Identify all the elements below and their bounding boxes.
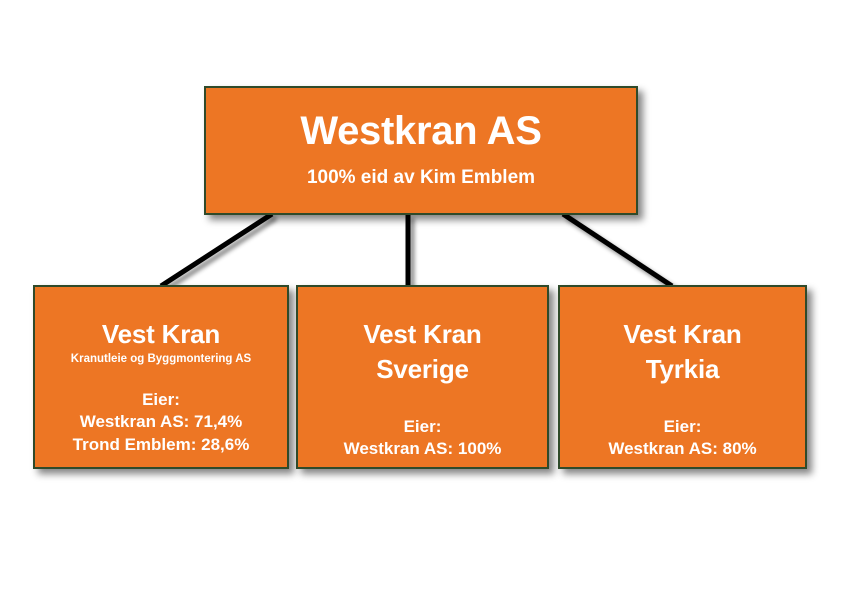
org-node-westkran-as[interactable]: Westkran AS 100% eid av Kim Emblem <box>204 86 638 215</box>
org-node-title-line: Tyrkia <box>623 352 741 387</box>
owner-label: Eier: <box>608 416 756 438</box>
org-node-title: Vest Kran Tyrkia <box>623 317 741 388</box>
org-node-title: Vest Kran Sverige <box>363 317 481 388</box>
connector-root-to-vest-kran-tyrkia <box>563 214 672 286</box>
org-node-vest-kran-tyrkia[interactable]: Vest Kran Tyrkia Eier: Westkran AS: 80% <box>558 285 807 469</box>
org-node-title-line: Vest Kran <box>623 317 741 352</box>
org-node-vest-kran[interactable]: Vest Kran Kranutleie og Byggmontering AS… <box>33 285 289 469</box>
org-node-subtitle: Kranutleie og Byggmontering AS <box>71 353 251 366</box>
org-node-owner-block: Eier: Westkran AS: 71,4% Trond Emblem: 2… <box>73 389 250 456</box>
org-node-title: Vest Kran <box>102 317 220 352</box>
org-node-owner-block: Eier: Westkran AS: 80% <box>608 416 756 461</box>
owner-entry: Westkran AS: 100% <box>344 438 502 460</box>
owner-entry: Trond Emblem: 28,6% <box>73 434 250 456</box>
org-node-ownership-note: 100% eid av Kim Emblem <box>307 168 535 189</box>
org-node-title-line: Sverige <box>363 352 481 387</box>
owner-entry: Westkran AS: 80% <box>608 438 756 460</box>
connector-root-to-vest-kran <box>161 214 272 286</box>
org-chart-canvas: Westkran AS 100% eid av Kim Emblem Vest … <box>0 0 842 595</box>
org-node-title-line: Vest Kran <box>363 317 481 352</box>
org-node-vest-kran-sverige[interactable]: Vest Kran Sverige Eier: Westkran AS: 100… <box>296 285 549 469</box>
owner-entry: Westkran AS: 71,4% <box>73 411 250 433</box>
owner-label: Eier: <box>73 389 250 411</box>
owner-label: Eier: <box>344 416 502 438</box>
org-node-title: Westkran AS <box>300 110 541 152</box>
org-node-owner-block: Eier: Westkran AS: 100% <box>344 416 502 461</box>
